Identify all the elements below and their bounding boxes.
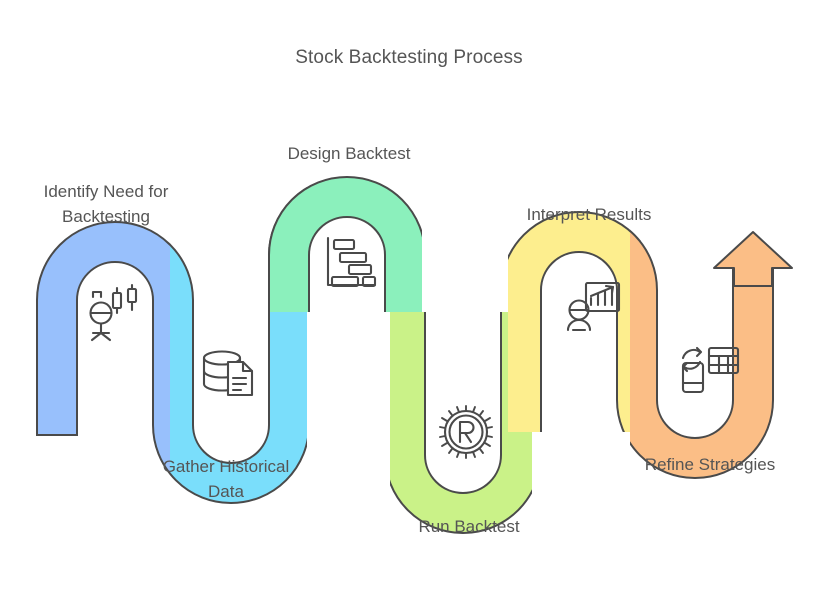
process-ribbon: [0, 0, 818, 590]
database-document-icon: [204, 352, 252, 396]
flow-arrowhead-icon: [714, 232, 792, 286]
refresh-device-table-icon: [683, 348, 738, 392]
stage-label-gather-historical-data: Gather Historical Data: [126, 455, 326, 504]
diagram-canvas: Stock Backtesting Process: [0, 0, 818, 590]
person-candlestick-chart-icon: [91, 285, 137, 340]
stage-label-design-backtest: Design Backtest: [258, 142, 440, 167]
gantt-chart-icon: [328, 238, 375, 286]
stage-label-refine-strategies: Refine Strategies: [614, 453, 806, 478]
stage-label-identify-need: Identify Need for Backtesting: [8, 180, 204, 229]
gear-r-icon: [440, 406, 492, 458]
person-presentation-chart-icon: [568, 283, 619, 330]
stage-label-run-backtest: Run Backtest: [388, 515, 550, 540]
stage-label-interpret-results: Interpret Results: [494, 203, 684, 228]
